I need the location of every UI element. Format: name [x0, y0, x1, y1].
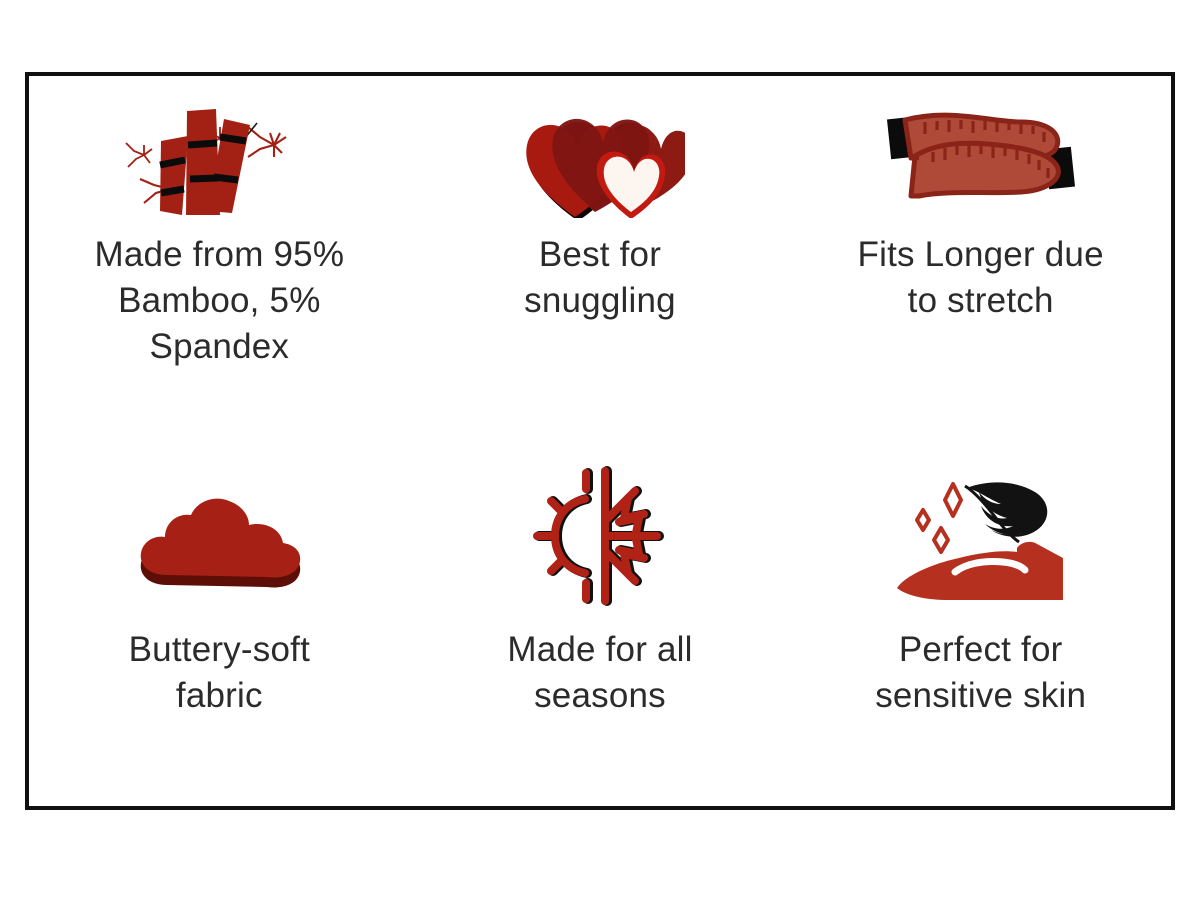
feature-label-soft: Buttery-soft fabric	[69, 627, 369, 719]
feature-grid: Made from 95% Bamboo, 5% Spandex	[29, 76, 1171, 806]
feature-cell-bamboo: Made from 95% Bamboo, 5% Spandex	[29, 76, 410, 441]
feature-cell-snuggling: Best for snuggling	[410, 76, 791, 441]
cloud-icon	[114, 471, 324, 601]
feature-poster: Made from 95% Bamboo, 5% Spandex	[0, 0, 1200, 900]
sun-snowflake-icon	[495, 471, 705, 601]
measuring-tape-icon	[876, 90, 1086, 220]
bamboo-stalks-icon	[114, 90, 324, 220]
feature-label-seasons: Made for all seasons	[450, 627, 750, 719]
feature-label-stretch: Fits Longer due to stretch	[831, 232, 1131, 324]
feature-cell-sensitive: Perfect for sensitive skin	[790, 441, 1171, 806]
feature-label-sensitive: Perfect for sensitive skin	[831, 627, 1131, 719]
hearts-icon	[495, 90, 705, 220]
feature-label-bamboo: Made from 95% Bamboo, 5% Spandex	[69, 232, 369, 371]
feature-cell-stretch: Fits Longer due to stretch	[790, 76, 1171, 441]
feature-label-snuggling: Best for snuggling	[450, 232, 750, 324]
feature-cell-soft: Buttery-soft fabric	[29, 441, 410, 806]
feature-cell-seasons: Made for all seasons	[410, 441, 791, 806]
hand-feather-icon	[876, 471, 1086, 601]
